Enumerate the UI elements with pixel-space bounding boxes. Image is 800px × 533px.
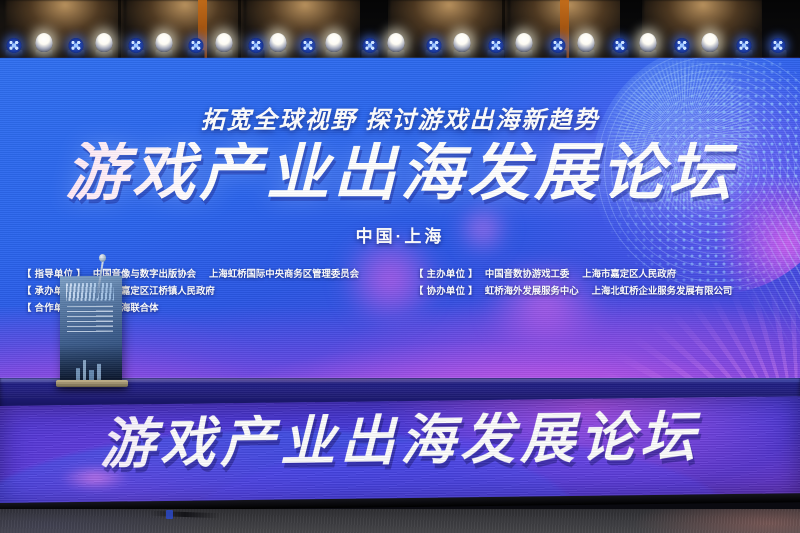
microphone-icon [99,254,106,262]
credit-org: 上海市嘉定区人民政府 [582,266,676,280]
credit-org: 虹桥海外发展服务中心 [485,283,579,297]
cable-connector [166,510,173,519]
credit-orgs: 中国音像与数字出版协会 上海虹桥国际中央商务区管理委员会 [93,266,359,280]
credit-orgs: 虹桥海外发展服务中心 上海北虹桥企业服务发展有限公司 [485,283,732,297]
credit-line: 【 主办单位 】 中国音数协游戏工委 上海市嘉定区人民政府 [414,264,800,281]
strip-moire-overlay [0,396,800,505]
banner-text-block [67,306,113,332]
roll-up-banner [60,276,122,385]
skyline-graphic [74,358,108,380]
credit-orgs: 中国音数协游戏工委 上海市嘉定区人民政府 [485,266,676,280]
banner-base [56,380,128,387]
event-subtitle: 拓宽全球视野 探讨游戏出海新趋势 [0,100,800,135]
event-main-title: 游戏产业出海发展论坛 [0,142,800,205]
credit-org: 上海虹桥国际中央商务区管理委员会 [209,266,359,280]
credit-label: 【 主办单位 】 [414,266,478,280]
credit-org: 中国音数协游戏工委 [485,266,569,280]
event-location: 中国·上海 [0,222,800,247]
lower-led-strip: 游戏产业出海发展论坛 [0,396,800,505]
stage-floor [0,509,800,533]
credits-right-column: 【 主办单位 】 中国音数协游戏工委 上海市嘉定区人民政府 【 协办单位 】 虹… [408,264,800,316]
overhead-light-rig [0,0,800,62]
credit-line: 【 协办单位 】 虹桥海外发展服务中心 上海北虹桥企业服务发展有限公司 [414,281,800,298]
banner-logo [66,283,114,302]
stage-photo: 拓宽全球视野 探讨游戏出海新趋势 游戏产业出海发展论坛 中国·上海 【 指导单位… [0,0,800,533]
credit-org: 上海北虹桥企业服务发展有限公司 [592,283,733,297]
credit-label: 【 协办单位 】 [414,283,478,297]
